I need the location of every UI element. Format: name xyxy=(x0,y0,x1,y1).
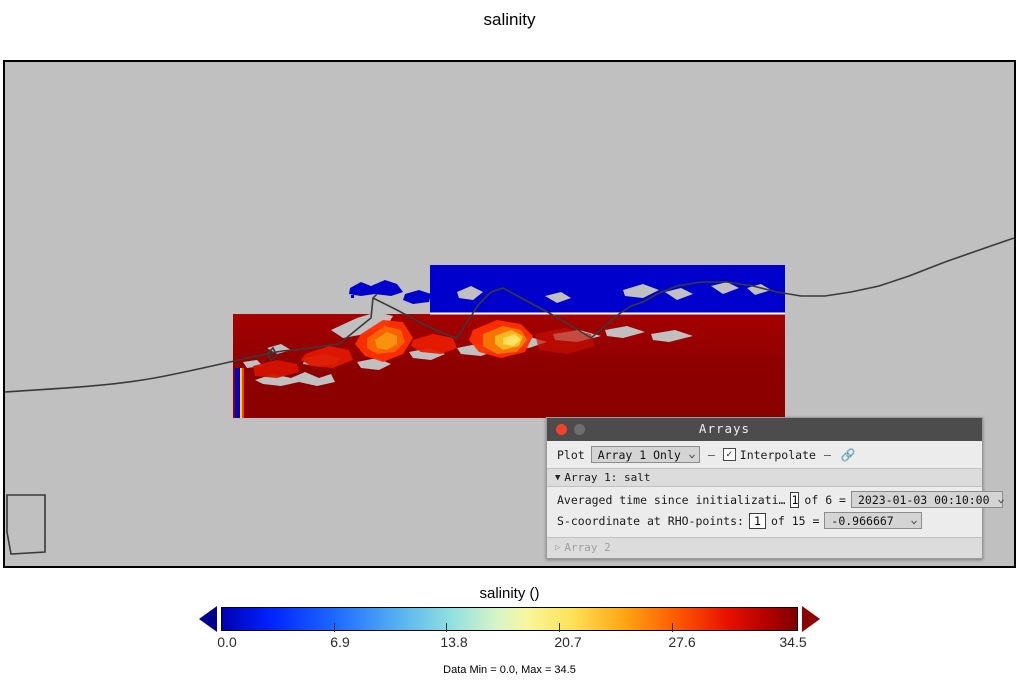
colorbar-tick-label: 6.9 xyxy=(330,634,349,650)
link-icon[interactable]: 🔗 xyxy=(841,448,856,462)
interpolate-label: Interpolate xyxy=(740,448,816,462)
scoord-value: -0.966667 xyxy=(831,514,893,528)
colorbar-tick-label: 34.5 xyxy=(779,634,806,650)
array-1-disclosure-header[interactable]: ▼ Array 1: salt xyxy=(547,468,982,487)
colorbar-tick xyxy=(672,623,673,632)
scoord-dimension-row: S-coordinate at RHO-points: 1 of 15 = -0… xyxy=(547,508,982,529)
page-title: salinity xyxy=(0,10,1019,30)
triangle-down-icon: ▼ xyxy=(555,473,560,483)
scoord-of-count: of 15 = xyxy=(771,514,819,528)
chevron-down-icon: ⌄ xyxy=(688,449,696,460)
chevron-down-icon: ⌄ xyxy=(997,494,1005,505)
chevron-down-icon: ⌄ xyxy=(910,515,918,526)
time-of-count: of 6 = xyxy=(804,493,846,507)
colorbar-gradient[interactable] xyxy=(221,607,798,631)
array-2-label: Array 2 xyxy=(564,541,610,554)
colorbar-under-range-arrow xyxy=(199,606,217,632)
separator-dash-1: — xyxy=(706,448,717,462)
triangle-right-icon: ▷ xyxy=(555,543,560,553)
colorbar-tick xyxy=(559,623,560,632)
scoord-dimension-label: S-coordinate at RHO-points: xyxy=(557,514,744,528)
arrays-panel-titlebar[interactable]: Arrays xyxy=(547,418,982,441)
time-dimension-row: Averaged time since initializati… 1 of 6… xyxy=(547,487,982,508)
colorbar-tick-label: 20.7 xyxy=(554,634,581,650)
colorbar-over-range-arrow xyxy=(802,606,820,632)
array-2-disclosure-header[interactable]: ▷ Array 2 xyxy=(547,537,982,558)
scoord-index-input[interactable]: 1 xyxy=(749,513,766,529)
colorbar[interactable]: 0.0 6.9 13.8 20.7 27.6 34.5 xyxy=(199,606,820,632)
plot-mode-select[interactable]: Array 1 Only ⌄ xyxy=(591,446,700,463)
colorbar-tick-label: 13.8 xyxy=(440,634,467,650)
colorbar-tick-label: 27.6 xyxy=(668,634,695,650)
checkmark-icon: ✓ xyxy=(723,448,736,461)
plot-label: Plot xyxy=(557,448,585,462)
arrays-panel[interactable]: Arrays Plot Array 1 Only ⌄ — ✓ Interpola… xyxy=(546,417,983,559)
separator-dash-2: — xyxy=(822,448,833,462)
time-index-input[interactable]: 1 xyxy=(790,492,799,508)
scoord-value-select[interactable]: -0.966667 ⌄ xyxy=(824,512,922,529)
time-value-select[interactable]: 2023-01-03 00:10:00 ⌄ xyxy=(851,491,1003,508)
colorbar-tick-label: 0.0 xyxy=(217,634,236,650)
colorbar-tick xyxy=(334,623,335,632)
arrays-panel-title: Arrays xyxy=(467,421,982,436)
arrays-panel-body: Plot Array 1 Only ⌄ — ✓ Interpolate — 🔗 … xyxy=(547,441,982,558)
interpolate-checkbox[interactable]: ✓ Interpolate xyxy=(723,448,816,462)
time-value: 2023-01-03 00:10:00 xyxy=(858,493,990,507)
plot-mode-row: Plot Array 1 Only ⌄ — ✓ Interpolate — 🔗 xyxy=(547,441,982,468)
time-dimension-label: Averaged time since initializati… xyxy=(557,493,785,507)
colorbar-title: salinity () xyxy=(0,585,1019,602)
colorbar-tick-labels: 0.0 6.9 13.8 20.7 27.6 34.5 xyxy=(199,634,820,652)
data-range-caption: Data Min = 0.0, Max = 34.5 xyxy=(0,664,1019,676)
plot-mode-value: Array 1 Only xyxy=(598,448,681,462)
colorbar-tick xyxy=(446,623,447,632)
array-1-label: Array 1: salt xyxy=(564,471,650,484)
